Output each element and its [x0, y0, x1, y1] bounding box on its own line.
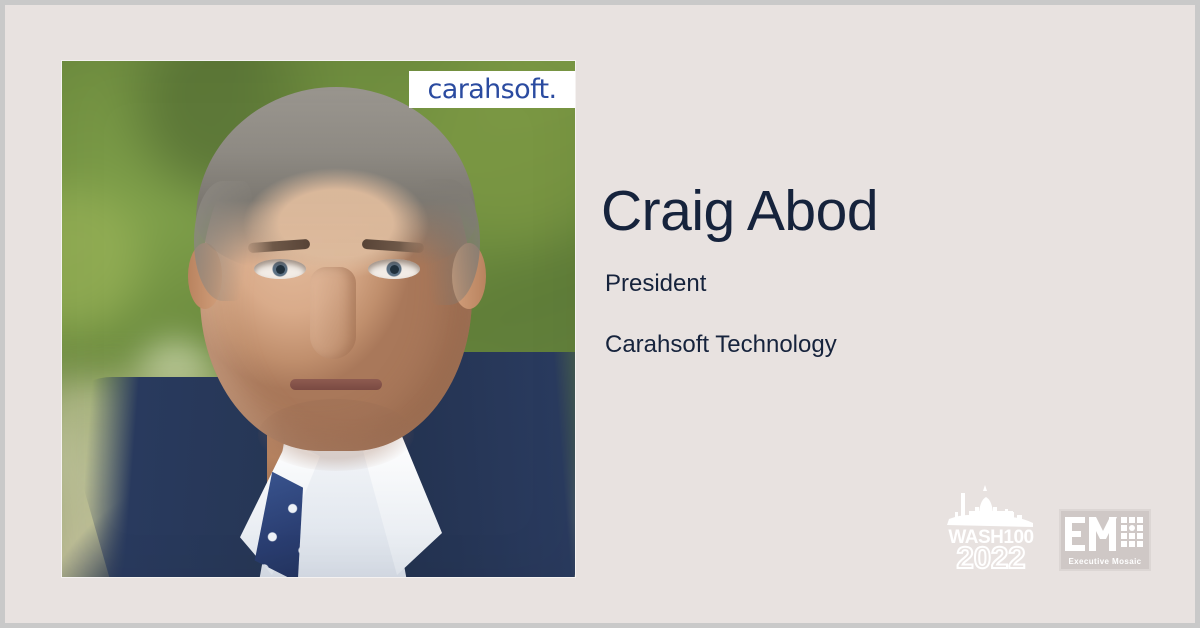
wash100-year: 2022: [957, 540, 1026, 571]
chin-shadow: [258, 399, 414, 471]
person-title: President: [605, 270, 1161, 299]
person-info: Craig Abod President Carahsoft Technolog…: [601, 181, 1161, 360]
executive-mosaic-logo: Executive Mosaic: [1059, 509, 1151, 571]
wash100-badge: WASH100 2022: [939, 479, 1043, 571]
mouth: [290, 379, 382, 390]
person-organization: Carahsoft Technology: [605, 331, 1161, 360]
carahsoft-logo: carahsoft.: [409, 71, 575, 108]
carahsoft-logo-text: carahsoft.: [428, 76, 557, 103]
portrait-photo: carahsoft.: [62, 61, 575, 577]
profile-card: carahsoft. Craig Abod President Carahsof…: [0, 0, 1200, 628]
pupil-left: [276, 265, 285, 274]
hair-side-left: [194, 181, 252, 301]
mosaic-grid-icon: Executive Mosaic: [1061, 511, 1149, 569]
badge-group: WASH100 2022: [939, 479, 1151, 571]
executive-mosaic-wordmark: Executive Mosaic: [1068, 557, 1141, 566]
capitol-skyline-icon: WASH100 2022: [939, 479, 1043, 571]
person-name: Craig Abod: [601, 181, 1161, 241]
hair-side-right: [418, 179, 480, 305]
pupil-right: [390, 265, 399, 274]
nose: [310, 267, 356, 359]
